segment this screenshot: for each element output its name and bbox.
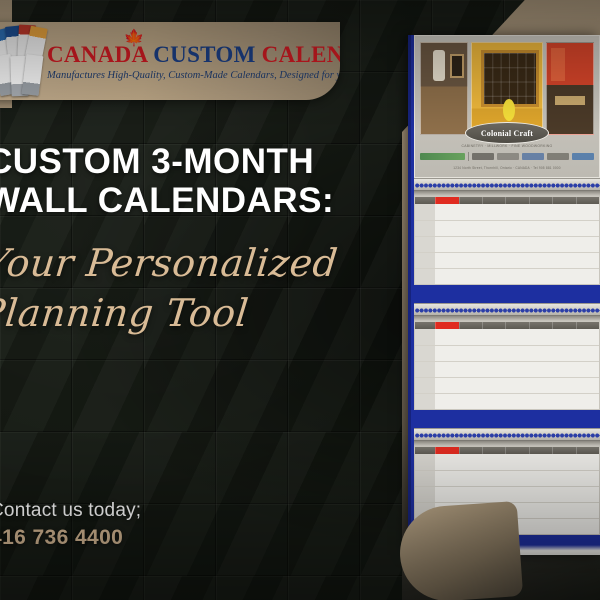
headline: CUSTOM 3-MONTH WALL CALENDARS: (0, 142, 367, 220)
weekday-header-row (415, 447, 599, 454)
brand-name: CANADA CUSTOM CALENDARS (47, 43, 337, 66)
weekday-header-wednesday (505, 447, 528, 454)
weekday-header-tuesday (482, 197, 505, 204)
calendar-sponsor-logos (420, 148, 594, 164)
weekday-header-wednesday (505, 197, 528, 204)
week-row (415, 268, 599, 284)
headline-line-1: CUSTOM 3-MONTH (0, 142, 367, 181)
week-number-cell (415, 329, 435, 345)
subheadline-line-2: Planning Tool (0, 288, 382, 338)
weekday-header-sunday (435, 447, 458, 454)
week-row (415, 377, 599, 393)
day-grid (415, 204, 599, 284)
week-number-cell (415, 269, 435, 284)
sponsor-logo-main (420, 153, 465, 160)
contact-block: Contact us today; 416 736 4400 (0, 500, 330, 550)
weekday-header-thursday (529, 322, 552, 329)
brand-word-canada: CANADA (47, 42, 147, 67)
weekday-header-sunday (435, 197, 458, 204)
week-number-cell (415, 394, 435, 409)
week-row (415, 345, 599, 361)
week-row (415, 393, 599, 409)
week-number-header (415, 197, 435, 204)
spiral-binding-3 (414, 428, 600, 441)
week-row (415, 204, 599, 220)
weekday-header-monday (459, 197, 482, 204)
sponsor-logo-1 (472, 153, 494, 160)
weekday-header-tuesday (482, 447, 505, 454)
photo-interior-woodwork (420, 42, 468, 135)
week-row (415, 252, 599, 268)
weekday-header-friday (552, 197, 575, 204)
week-row (415, 329, 599, 345)
week-number-cell (415, 253, 435, 268)
day-grid (415, 329, 599, 409)
weekday-header-saturday (576, 447, 599, 454)
weekday-header-row (415, 322, 599, 329)
sponsor-divider (468, 152, 469, 161)
photo-red-kitchen (546, 42, 594, 135)
calendar-products-logo-icon (0, 25, 42, 97)
week-row (415, 220, 599, 236)
sponsor-logo-2 (497, 153, 519, 160)
week-row (415, 361, 599, 377)
week-number-cell (415, 362, 435, 377)
week-number-cell (415, 237, 435, 252)
contact-phone-number[interactable]: 416 736 4400 (0, 526, 330, 550)
week-number-cell (415, 487, 435, 502)
weekday-header-thursday (529, 197, 552, 204)
week-number-header (415, 447, 435, 454)
calendar-month-2 (414, 321, 600, 410)
weekday-header-monday (459, 447, 482, 454)
spiral-binding-2 (414, 303, 600, 316)
week-number-cell (415, 471, 435, 486)
calendar-header-panel: Colonial Craft CABINETRY · MILLWORK · FI… (414, 35, 600, 178)
calendar-brand-title: Colonial Craft (481, 129, 533, 138)
weekday-header-sunday (435, 322, 458, 329)
week-number-cell (415, 346, 435, 361)
weekday-header-friday (552, 447, 575, 454)
subheadline: Your Personalized Planning Tool (0, 238, 387, 338)
sponsor-logo-3 (522, 153, 544, 160)
spiral-binding-top (414, 178, 600, 191)
week-number-cell (415, 221, 435, 236)
weekday-header-saturday (576, 322, 599, 329)
brand-tagline: Manufactures High-Quality, Custom-Made C… (47, 70, 337, 81)
week-row (415, 486, 599, 502)
calendar-address-line: 1234 North Street, Thornhill, Ontario · … (415, 166, 599, 170)
binding-bar-2 (414, 316, 600, 321)
sponsor-logo-4 (547, 153, 569, 160)
wall-calendar-product-image: Colonial Craft CABINETRY · MILLWORK · FI… (408, 35, 600, 555)
weekday-header-saturday (576, 197, 599, 204)
weekday-header-row (415, 197, 599, 204)
contact-label: Contact us today; (0, 500, 330, 522)
calendar-month-1 (414, 196, 600, 285)
subheadline-line-1: Your Personalized (0, 238, 387, 288)
weekday-header-thursday (529, 447, 552, 454)
weekday-header-friday (552, 322, 575, 329)
sponsor-logo-5 (572, 153, 594, 160)
brand-word-calendars: CALENDARS (262, 42, 340, 67)
week-number-cell (415, 378, 435, 393)
week-number-header (415, 322, 435, 329)
calendar-brand-badge: Colonial Craft (465, 122, 549, 144)
headline-line-2: WALL CALENDARS: (0, 181, 367, 220)
binding-bar-3 (414, 441, 600, 446)
weekday-header-wednesday (505, 322, 528, 329)
weekday-header-monday (459, 322, 482, 329)
week-number-cell (415, 454, 435, 470)
brand-word-custom: CUSTOM (153, 42, 255, 67)
week-row (415, 470, 599, 486)
week-row (415, 236, 599, 252)
week-row (415, 454, 599, 470)
week-number-cell (415, 204, 435, 220)
promotional-poster: 🍁 CANADA CUSTOM CALENDARS Manufactures H… (0, 0, 600, 600)
weekday-header-tuesday (482, 322, 505, 329)
brand-banner: 🍁 CANADA CUSTOM CALENDARS Manufactures H… (0, 22, 340, 100)
